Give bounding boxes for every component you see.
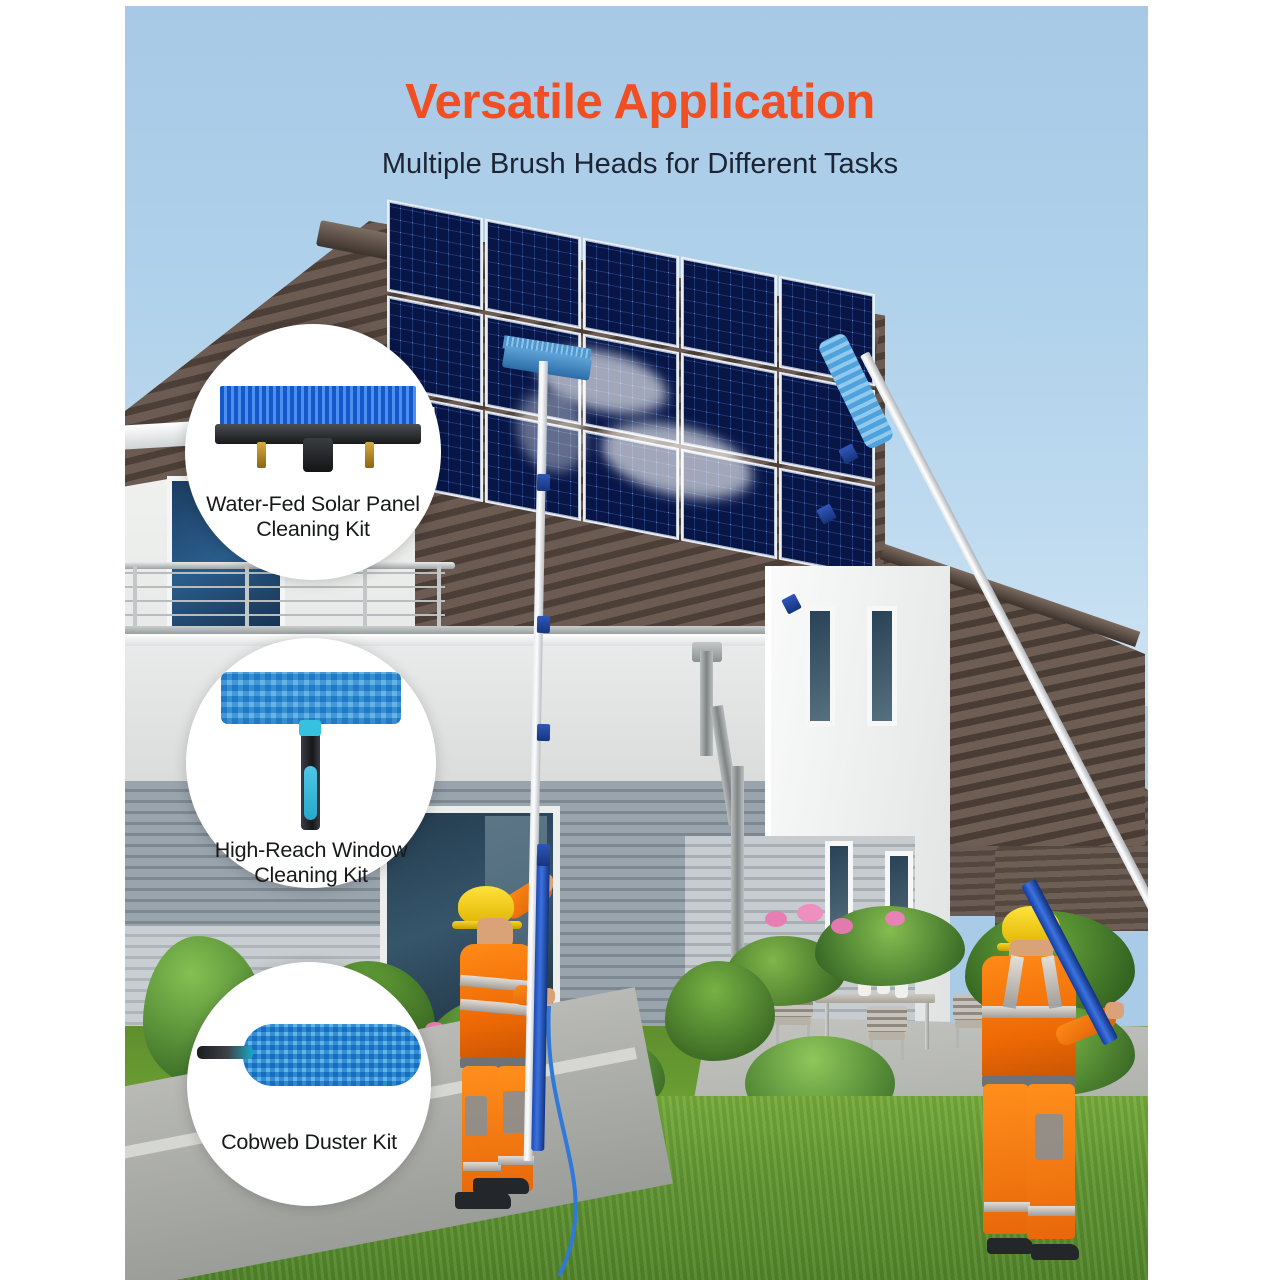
solar-panel: [583, 238, 679, 349]
brass-water-jet: [257, 442, 266, 468]
callout-high-reach-window-cleaning-kit[interactable]: High-Reach Window Cleaning Kit: [186, 638, 436, 888]
page-subtitle: Multiple Brush Heads for Different Tasks: [0, 148, 1280, 181]
callout-label-line1: Water-Fed Solar Panel: [206, 492, 420, 517]
reflective-stripe: [982, 1006, 1076, 1018]
pink-flower: [797, 904, 823, 922]
trouser-stripe: [984, 1202, 1030, 1212]
table-leg: [925, 1003, 929, 1049]
microfiber-pad: [221, 672, 401, 724]
water-hose: [543, 1006, 843, 1276]
knee-pad: [465, 1096, 487, 1136]
solar-panel: [485, 218, 581, 329]
mop-grip: [304, 766, 317, 820]
callout-label-line2: Cleaning Kit: [215, 863, 408, 888]
callout-label-line1: Cobweb Duster Kit: [221, 1130, 397, 1155]
solar-panel: [681, 449, 777, 560]
solar-panel: [779, 468, 875, 579]
duster-chenille-body: [243, 1024, 421, 1086]
pole-clamp: [537, 844, 550, 866]
solar-panel: [485, 410, 581, 521]
downspout-upper: [700, 651, 713, 756]
mop-neck: [299, 720, 321, 736]
trouser-stripe: [463, 1162, 501, 1171]
patio-table-top: [815, 994, 935, 1003]
solar-panel: [681, 257, 777, 368]
solar-panel: [387, 199, 483, 310]
pole-clamp: [537, 724, 550, 741]
solar-panel: [681, 353, 777, 464]
work-boot: [455, 1192, 511, 1209]
microfiber-window-mop-icon: [186, 672, 436, 832]
gripping-hand: [1105, 1002, 1124, 1019]
work-boot: [987, 1238, 1033, 1254]
cargo-pocket: [1035, 1114, 1063, 1160]
pole-socket: [303, 438, 333, 472]
work-boot: [1031, 1244, 1079, 1260]
product-marketing-image: Versatile Application Multiple Brush Hea…: [0, 0, 1280, 1280]
duster-handle: [197, 1046, 253, 1059]
pink-flower: [765, 911, 787, 927]
pole-clamp: [537, 616, 550, 633]
brass-water-jet: [365, 442, 374, 468]
solar-panel: [583, 334, 679, 445]
page-title: Versatile Application: [0, 74, 1280, 130]
hi-vis-jacket: [982, 956, 1076, 1081]
brush-bristles: [220, 386, 416, 424]
callout-water-fed-solar-panel-cleaning-kit[interactable]: Water-Fed Solar Panel Cleaning Kit: [185, 324, 441, 580]
tower-window: [867, 606, 897, 726]
callout-label-line1: High-Reach Window: [215, 838, 408, 863]
solar-panel: [583, 430, 679, 541]
pink-flower: [831, 918, 853, 934]
trouser-stripe: [1028, 1206, 1075, 1216]
callout-cobweb-duster-kit[interactable]: Cobweb Duster Kit: [187, 962, 431, 1206]
pole-clamp: [537, 474, 550, 491]
pink-flower: [885, 911, 905, 926]
work-boot: [473, 1178, 529, 1194]
tower-window: [805, 606, 835, 726]
chenille-cobweb-duster-icon: [187, 1024, 431, 1094]
callout-label-line2: Cleaning Kit: [206, 517, 420, 542]
solar-panel-brush-head-icon: [185, 386, 441, 478]
